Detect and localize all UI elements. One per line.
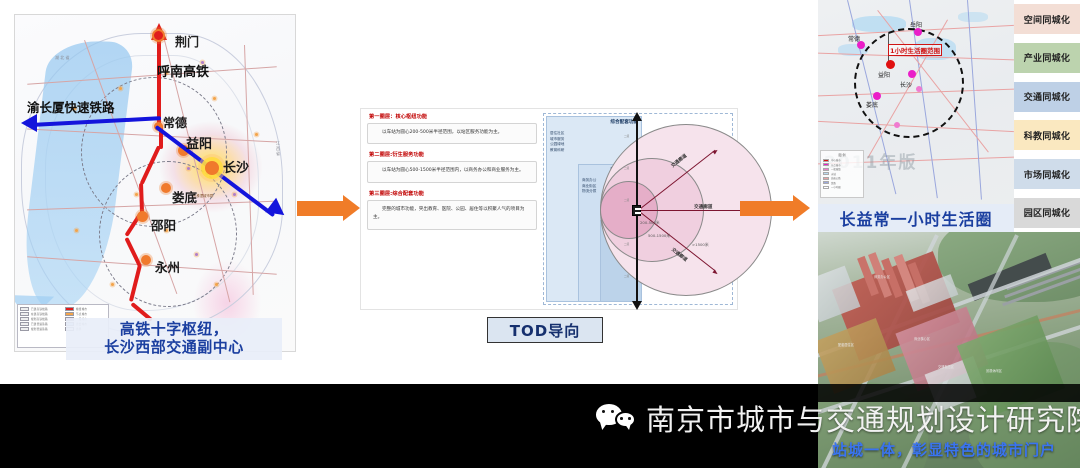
terminus-node	[152, 29, 165, 42]
left-map-caption-line2: 长沙西部交通副中心	[66, 339, 282, 357]
chip-industry[interactable]: 产业同城化	[1014, 43, 1080, 73]
ring-section-2-title: 第二圈层:衍生服务功能	[369, 151, 537, 158]
chip-transport[interactable]: 交通同城化	[1014, 82, 1080, 112]
layer-outer-item-3: 教育科研	[550, 148, 564, 154]
tod-badge: TOD导向	[487, 317, 603, 343]
city-label-yueyang: 岳阳	[910, 20, 922, 29]
city-dot	[213, 97, 216, 100]
ring-section-3-title: 第三圈层:综合配套功能	[369, 190, 537, 197]
city-dot	[233, 193, 236, 196]
ring-section-2: 第二圈层:衍生服务功能 以车站为圆心500-1500米半径范围内，以商务办公和商…	[367, 151, 537, 182]
integration-theme-chips: 空间同城化 产业同城化 交通同城化 科教同城化 市场同城化 园区同城化	[1014, 0, 1080, 232]
city-label-yiyang: 益阳	[186, 133, 212, 152]
left-map-caption: 高铁十字枢纽， 长沙西部交通副中心	[66, 318, 282, 360]
city-label-yiyang: 益阳	[878, 70, 890, 79]
railway-arrow-west	[21, 114, 37, 132]
radial-corridor-diagram: 二级 二级 二级 二级 二级 交通廊道 交通廊道 交通廊道 200-500米 5…	[636, 120, 740, 302]
city-label-shaoyang: 邵阳	[151, 215, 176, 234]
ring-section-3: 第三圈层:综合配套功能 完整的城市功能，突出教育、医院、公园、居住等以积聚人气的…	[367, 190, 537, 230]
ring-section-1-body: 以车站为圆心200-500米半径范围，以站区服务功能为主。	[373, 129, 531, 137]
layer-middle-item-0: 商务办公	[582, 178, 596, 184]
chip-spatial[interactable]: 空间同城化	[1014, 4, 1080, 34]
rail-node	[161, 183, 171, 193]
ring-section-1-title: 第一圈层：核心枢纽功能	[369, 113, 537, 120]
rail-label-ycx: 渝长厦快速铁路	[27, 97, 115, 116]
city-dot	[255, 133, 258, 136]
layer-middle-item-2: 物流分拨	[582, 189, 596, 195]
axis-arrow-up	[632, 112, 642, 121]
ring-sections: 第一圈层：核心枢纽功能 以车站为圆心200-500米半径范围，以站区服务功能为主…	[367, 113, 537, 237]
city-label-changde: 常德	[848, 34, 860, 43]
rail-node	[137, 211, 148, 222]
radius-label-inner: 200-500米	[640, 220, 660, 226]
hunan-rail-network-map: 长株潭城市群 荆门 呼南高铁 渝长厦快速铁路 常德 益阳 长沙 娄底 邵阳 永州…	[14, 14, 296, 352]
city-marker-yueyang	[914, 28, 922, 36]
water-body	[958, 12, 988, 22]
city-marker-loudi	[873, 92, 881, 100]
city-label-loudi: 娄底	[172, 187, 197, 206]
road	[967, 0, 982, 200]
one-hour-circle-annotation: 1小时生活圈范围	[888, 44, 942, 56]
ring-section-2-body: 以车站为圆心500-1500米半径范围内，以商务办公和商业服务为主。	[373, 167, 531, 175]
corridor-axis-e	[638, 210, 746, 211]
city-marker-minor	[894, 122, 900, 128]
city-dot	[135, 193, 138, 196]
city-dot	[215, 283, 218, 286]
city-dot	[111, 283, 114, 286]
changsha-core-marker	[205, 161, 219, 175]
aerial-caption: 站城一体，彰显特色的城市门户	[808, 437, 1080, 461]
city-label-changde: 常德	[163, 114, 187, 131]
city-dot	[195, 253, 198, 256]
station-icon	[632, 205, 641, 216]
radius-label-middle: 500-1500米	[648, 233, 670, 239]
chip-park[interactable]: 园区同城化	[1014, 198, 1080, 228]
ring-section-1: 第一圈层：核心枢纽功能 以车站为圆心200-500米半径范围，以站区服务功能为主…	[367, 113, 537, 144]
ring-layer-diagram: 综合配套功能 居住社区 城市服务 公园绿地 教育科研 衍生服务功能 商务办公 商…	[543, 113, 733, 305]
chip-education[interactable]: 科教同城化	[1014, 120, 1080, 150]
left-map-caption-line1: 高铁十字枢纽，	[66, 321, 282, 339]
flow-arrow-left	[297, 195, 361, 222]
changsha-yiyang-changde-one-hour-circle-map: 常德 岳阳 益阳 长沙 娄底 1小时生活圈范围 2011年版 图 例 中心城市 …	[818, 0, 1014, 232]
city-dot	[119, 87, 122, 90]
city-dot	[187, 167, 190, 170]
tod-ring-structure-diagram: 第一圈层：核心枢纽功能 以车站为圆心200-500米半径范围，以站区服务功能为主…	[360, 108, 738, 310]
city-label-yongzhou: 永州	[155, 257, 180, 276]
zone-label-3: 配套居住区	[838, 342, 854, 347]
zone-label-2: 交通枢纽区	[938, 364, 954, 369]
top-right-map-caption: 长益常一小时生活圈	[818, 204, 1014, 232]
city-dot	[75, 229, 78, 232]
city-marker-changsha	[908, 70, 916, 78]
slide-canvas: 长株潭城市群 荆门 呼南高铁 渝长厦快速铁路 常德 益阳 长沙 娄底 邵阳 永州…	[0, 0, 1080, 468]
rail-label-hunan-hsr: 呼南高铁	[157, 61, 209, 80]
rail-node	[141, 255, 151, 265]
legend-title: 图 例	[823, 153, 861, 157]
map-legend: 图 例 中心城市 节点城市 一般城镇 水域 高速公路 铁路 一小时圈	[820, 150, 864, 198]
city-label-changsha: 长沙	[900, 80, 912, 89]
zone-label-0: 商务办公区	[874, 274, 890, 279]
province-name-jiangxi: 江 西 省	[275, 141, 281, 156]
layer-outer-item-2: 公园绿地	[550, 142, 564, 148]
flow-arrow-right	[740, 195, 812, 222]
layer-outer-item-0: 居住社区	[550, 131, 564, 137]
wechat-icon	[596, 402, 636, 434]
chip-market[interactable]: 市场同城化	[1014, 159, 1080, 189]
institute-name: 南京市城市与交通规划设计研究院	[646, 397, 1080, 439]
city-marker-yiyang	[886, 60, 895, 69]
province-name-hubei: 湖 北 省	[55, 55, 70, 61]
city-label-changsha: 长沙	[223, 157, 249, 176]
city-marker-minor	[916, 86, 922, 92]
radius-label-outer: >1500米	[692, 242, 709, 248]
wechat-attribution: 南京市城市与交通规划设计研究院	[596, 396, 1066, 440]
city-label-loudi: 娄底	[866, 100, 878, 109]
corridor-label-e: 交通廊道	[694, 204, 712, 210]
city-label-jingmen: 荆门	[175, 33, 199, 50]
axis-arrow-down	[632, 301, 642, 310]
ring-section-3-body: 完整的城市功能，突出教育、医院、公园、居住等以积聚人气的项目为主。	[373, 206, 531, 223]
zone-label-4: 景观休闲区	[986, 368, 1002, 373]
zone-label-1: 商业核心区	[914, 336, 930, 341]
railway-line-hunan	[157, 39, 161, 127]
